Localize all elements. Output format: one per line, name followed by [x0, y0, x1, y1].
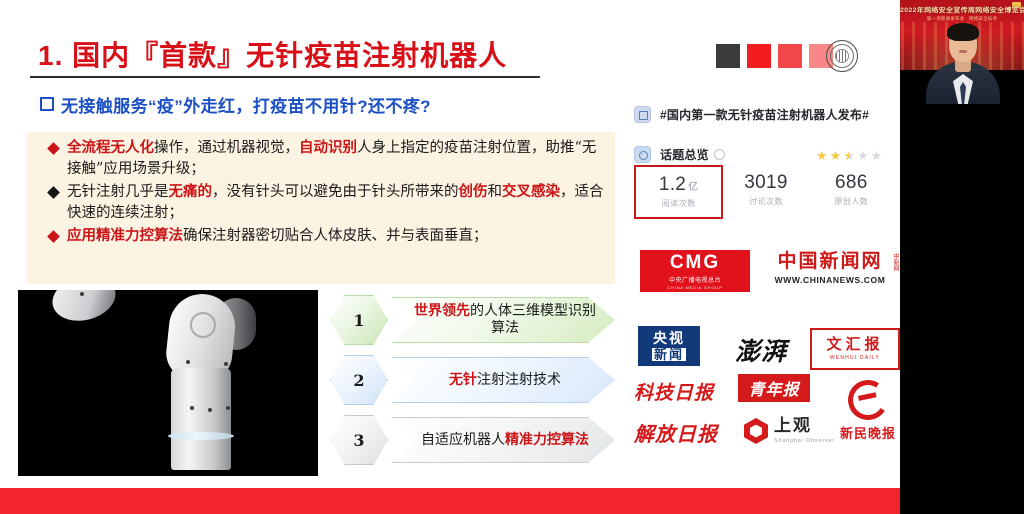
text-segment: ，没有针头可以避免由于针头所带来的 [212, 184, 459, 200]
stat-label: 讨论次数 [723, 196, 808, 207]
chinanews-cn: 中国新闻网 [764, 252, 896, 271]
text-segment: 自适应机器人 [421, 432, 505, 448]
weibo-hashtag-text: #国内第一款无针疫苗注射机器人发布# [660, 106, 869, 123]
media-logo-wall: CMG 中央广播电视总台 CHINA MEDIA GROUP 中国新闻网 中新网… [630, 250, 900, 482]
text-segment: 世界领先 [414, 303, 470, 319]
cmg-brand: CMG [670, 253, 720, 272]
stat-cell: 1.2亿阅读次数 [634, 165, 723, 219]
bullet-text: 全流程无人化操作，通过机器视觉，自动识别人身上指定的疫苗注射位置，助推“无接触”… [67, 138, 605, 179]
stat-cell: 686原创人数 [809, 172, 894, 219]
text-segment: 的人体三维模型识别算法 [470, 303, 596, 336]
color-swatch [716, 44, 740, 68]
stat-value: 1.2亿 [636, 174, 721, 196]
robot-arm-photo [18, 290, 318, 476]
text-segment: 交叉感染 [502, 183, 560, 200]
speaker-mouth [959, 50, 967, 53]
robot-bolt [226, 406, 230, 410]
bullet-square-icon [40, 97, 54, 111]
robot-brand-ring-icon [190, 312, 216, 338]
cctv-line2: 新闻 [652, 348, 686, 362]
shangguan-en: Shanghai Observer [774, 438, 835, 444]
wenhui-cn: 文汇报 [826, 337, 883, 352]
weibo-overview-icon [634, 146, 651, 163]
stat-label: 阅读次数 [636, 198, 721, 209]
text-segment: 操作，通过机器视觉， [154, 140, 299, 156]
bullet-item: 全流程无人化操作，通过机器视觉，自动识别人身上指定的疫苗注射位置，助推“无接触”… [31, 138, 605, 179]
qingnian-cn: 青年报 [748, 376, 799, 400]
logo-science-tech-daily: 科技日报 [634, 378, 734, 405]
robot-bolt [186, 360, 190, 364]
diamond-bullet-icon [47, 142, 60, 155]
bullet-panel: 全流程无人化操作，通过机器视觉，自动识别人身上指定的疫苗注射位置，助推“无接触”… [27, 132, 615, 284]
robot-arm-lower [171, 368, 231, 470]
stat-unit: 亿 [688, 182, 698, 193]
flow-step: 3自适应机器人精准力控算法 [330, 415, 615, 465]
logo-cmg: CMG 中央广播电视总台 CHINA MEDIA GROUP [640, 250, 750, 292]
weibo-hashtag-row[interactable]: #国内第一款无针疫苗注射机器人发布# [634, 106, 869, 123]
logo-chinanews: 中国新闻网 中新网 WWW.CHINANEWS.COM [764, 252, 896, 285]
video-letterbox [900, 104, 1024, 514]
banner-title: 2022年网络安全宣传周网络安全博览会 [900, 5, 1024, 14]
subtitle-text: 无接触服务“疫”外走红，打疫苗不用针?还不疼? [61, 97, 431, 116]
text-segment: 应用精准力控算法 [67, 227, 183, 244]
title-underline [30, 76, 540, 78]
star-icon: ★ [871, 148, 883, 164]
text-segment: 无针 [449, 372, 477, 388]
diamond-bullet-icon [47, 230, 60, 243]
rating-stars: ★★★★★ [816, 148, 882, 164]
star-icon: ★ [830, 148, 842, 164]
wenhui-en: WENHUI DAILY [830, 355, 880, 361]
speaker-eye-left [954, 39, 959, 41]
process-flow: 1世界领先的人体三维模型识别算法2无针注射注射技术3自适应机器人精准力控算法 [330, 295, 615, 475]
text-segment: 全流程无人化 [67, 139, 154, 156]
logo-xinmin-evening-news: 新民晚报 [830, 380, 906, 442]
robot-arm-band [168, 432, 234, 440]
text-segment: 和 [488, 184, 503, 200]
stat-value: 3019 [723, 172, 808, 194]
color-swatch [778, 44, 802, 68]
slide-subtitle: 无接触服务“疫”外走红，打疫苗不用针?还不疼? [40, 92, 600, 117]
robot-bolt [190, 406, 194, 410]
xinmin-cn: 新民晚报 [830, 423, 906, 442]
bullet-item: 应用精准力控算法确保注射器密切贴合人体皮肤、并与表面垂直； [31, 226, 605, 247]
video-panel[interactable]: 2022年网络安全宣传周网络安全博览会 第一场新闻发布会 · 网络安全技术 [900, 0, 1024, 514]
flow-step-number: 3 [330, 415, 388, 465]
text-segment: 注射注射技术 [477, 372, 561, 388]
logo-cctv-news: 央视 新闻 [638, 326, 700, 366]
speaker-eye-right [965, 39, 970, 41]
flow-step-number: 2 [330, 355, 388, 405]
shangguan-mark-icon [744, 418, 768, 444]
flow-step-label: 自适应机器人精准力控算法 [391, 417, 615, 463]
stat-cell: 3019讨论次数 [723, 172, 808, 219]
text-segment: 确保注射器密切贴合人体皮肤、并与表面垂直； [183, 228, 488, 244]
text-segment: 无痛的 [169, 183, 213, 200]
cctv-line1: 央视 [653, 331, 685, 346]
chinanews-side: 中新网 [892, 253, 898, 271]
bullet-text: 无针注射几乎是无痛的，没有针头可以避免由于针头所带来的创伤和交叉感染，适合快速的… [67, 182, 605, 223]
color-swatch [747, 44, 771, 68]
star-icon: ★ [843, 148, 855, 164]
flow-step: 2无针注射注射技术 [330, 355, 615, 405]
star-icon: ★ [857, 148, 869, 164]
color-swatch-strip [716, 44, 833, 68]
logo-wenhui-daily: 文汇报 WENHUI DAILY [810, 328, 900, 370]
logo-youth-daily: 青年报 [738, 374, 810, 402]
cmg-cn: 中央广播电视总台 [669, 275, 721, 284]
logo-thepaper: 澎湃 [718, 332, 804, 368]
text-segment: 无针注射几乎是 [67, 184, 169, 200]
text-segment: 创伤 [459, 183, 488, 200]
shangguan-cn: 上观 [774, 418, 835, 435]
xinmin-mark-icon [844, 376, 891, 423]
flow-step-label: 世界领先的人体三维模型识别算法 [391, 297, 615, 343]
logo-jiefang-daily: 解放日报 [634, 418, 738, 447]
weibo-overview-row: 话题总览 [634, 146, 725, 163]
text-segment: 自动识别 [299, 139, 357, 156]
bullet-text: 应用精准力控算法确保注射器密切贴合人体皮肤、并与表面垂直； [67, 226, 605, 247]
slide-canvas: 1. 国内『首款』无针疫苗注射机器人 无接触服务“疫”外走红，打疫苗不用针?还不… [0, 0, 1024, 514]
stat-value: 686 [809, 172, 894, 194]
institution-seal-icon [826, 40, 858, 72]
flow-step-label: 无针注射注射技术 [391, 357, 615, 403]
robot-arm-joint-top [48, 290, 121, 327]
diamond-bullet-icon [47, 186, 60, 199]
stat-label: 原创人数 [809, 196, 894, 207]
flow-step-number: 1 [330, 295, 388, 345]
bullet-item: 无针注射几乎是无痛的，没有针头可以避免由于针头所带来的创伤和交叉感染，适合快速的… [31, 182, 605, 223]
robot-bolt [224, 362, 228, 366]
speaker-figure [926, 22, 1000, 104]
robot-bolt [208, 408, 212, 412]
text-segment: 精准力控算法 [505, 432, 589, 448]
flow-step: 1世界领先的人体三维模型识别算法 [330, 295, 615, 345]
weibo-stats: 1.2亿阅读次数3019讨论次数686原创人数 [634, 172, 894, 219]
chinanews-url: WWW.CHINANEWS.COM [764, 275, 896, 285]
weibo-topic-icon [634, 106, 651, 123]
cmg-en: CHINA MEDIA GROUP [667, 285, 722, 290]
weibo-overview-label: 话题总览 [660, 146, 709, 163]
page-title: 1. 国内『首款』无针疫苗注射机器人 [38, 34, 558, 74]
speaker-hair [947, 23, 979, 41]
footer-bar [0, 488, 900, 514]
robot-bolt [80, 292, 84, 296]
info-icon[interactable] [714, 149, 725, 160]
star-icon: ★ [816, 148, 828, 164]
